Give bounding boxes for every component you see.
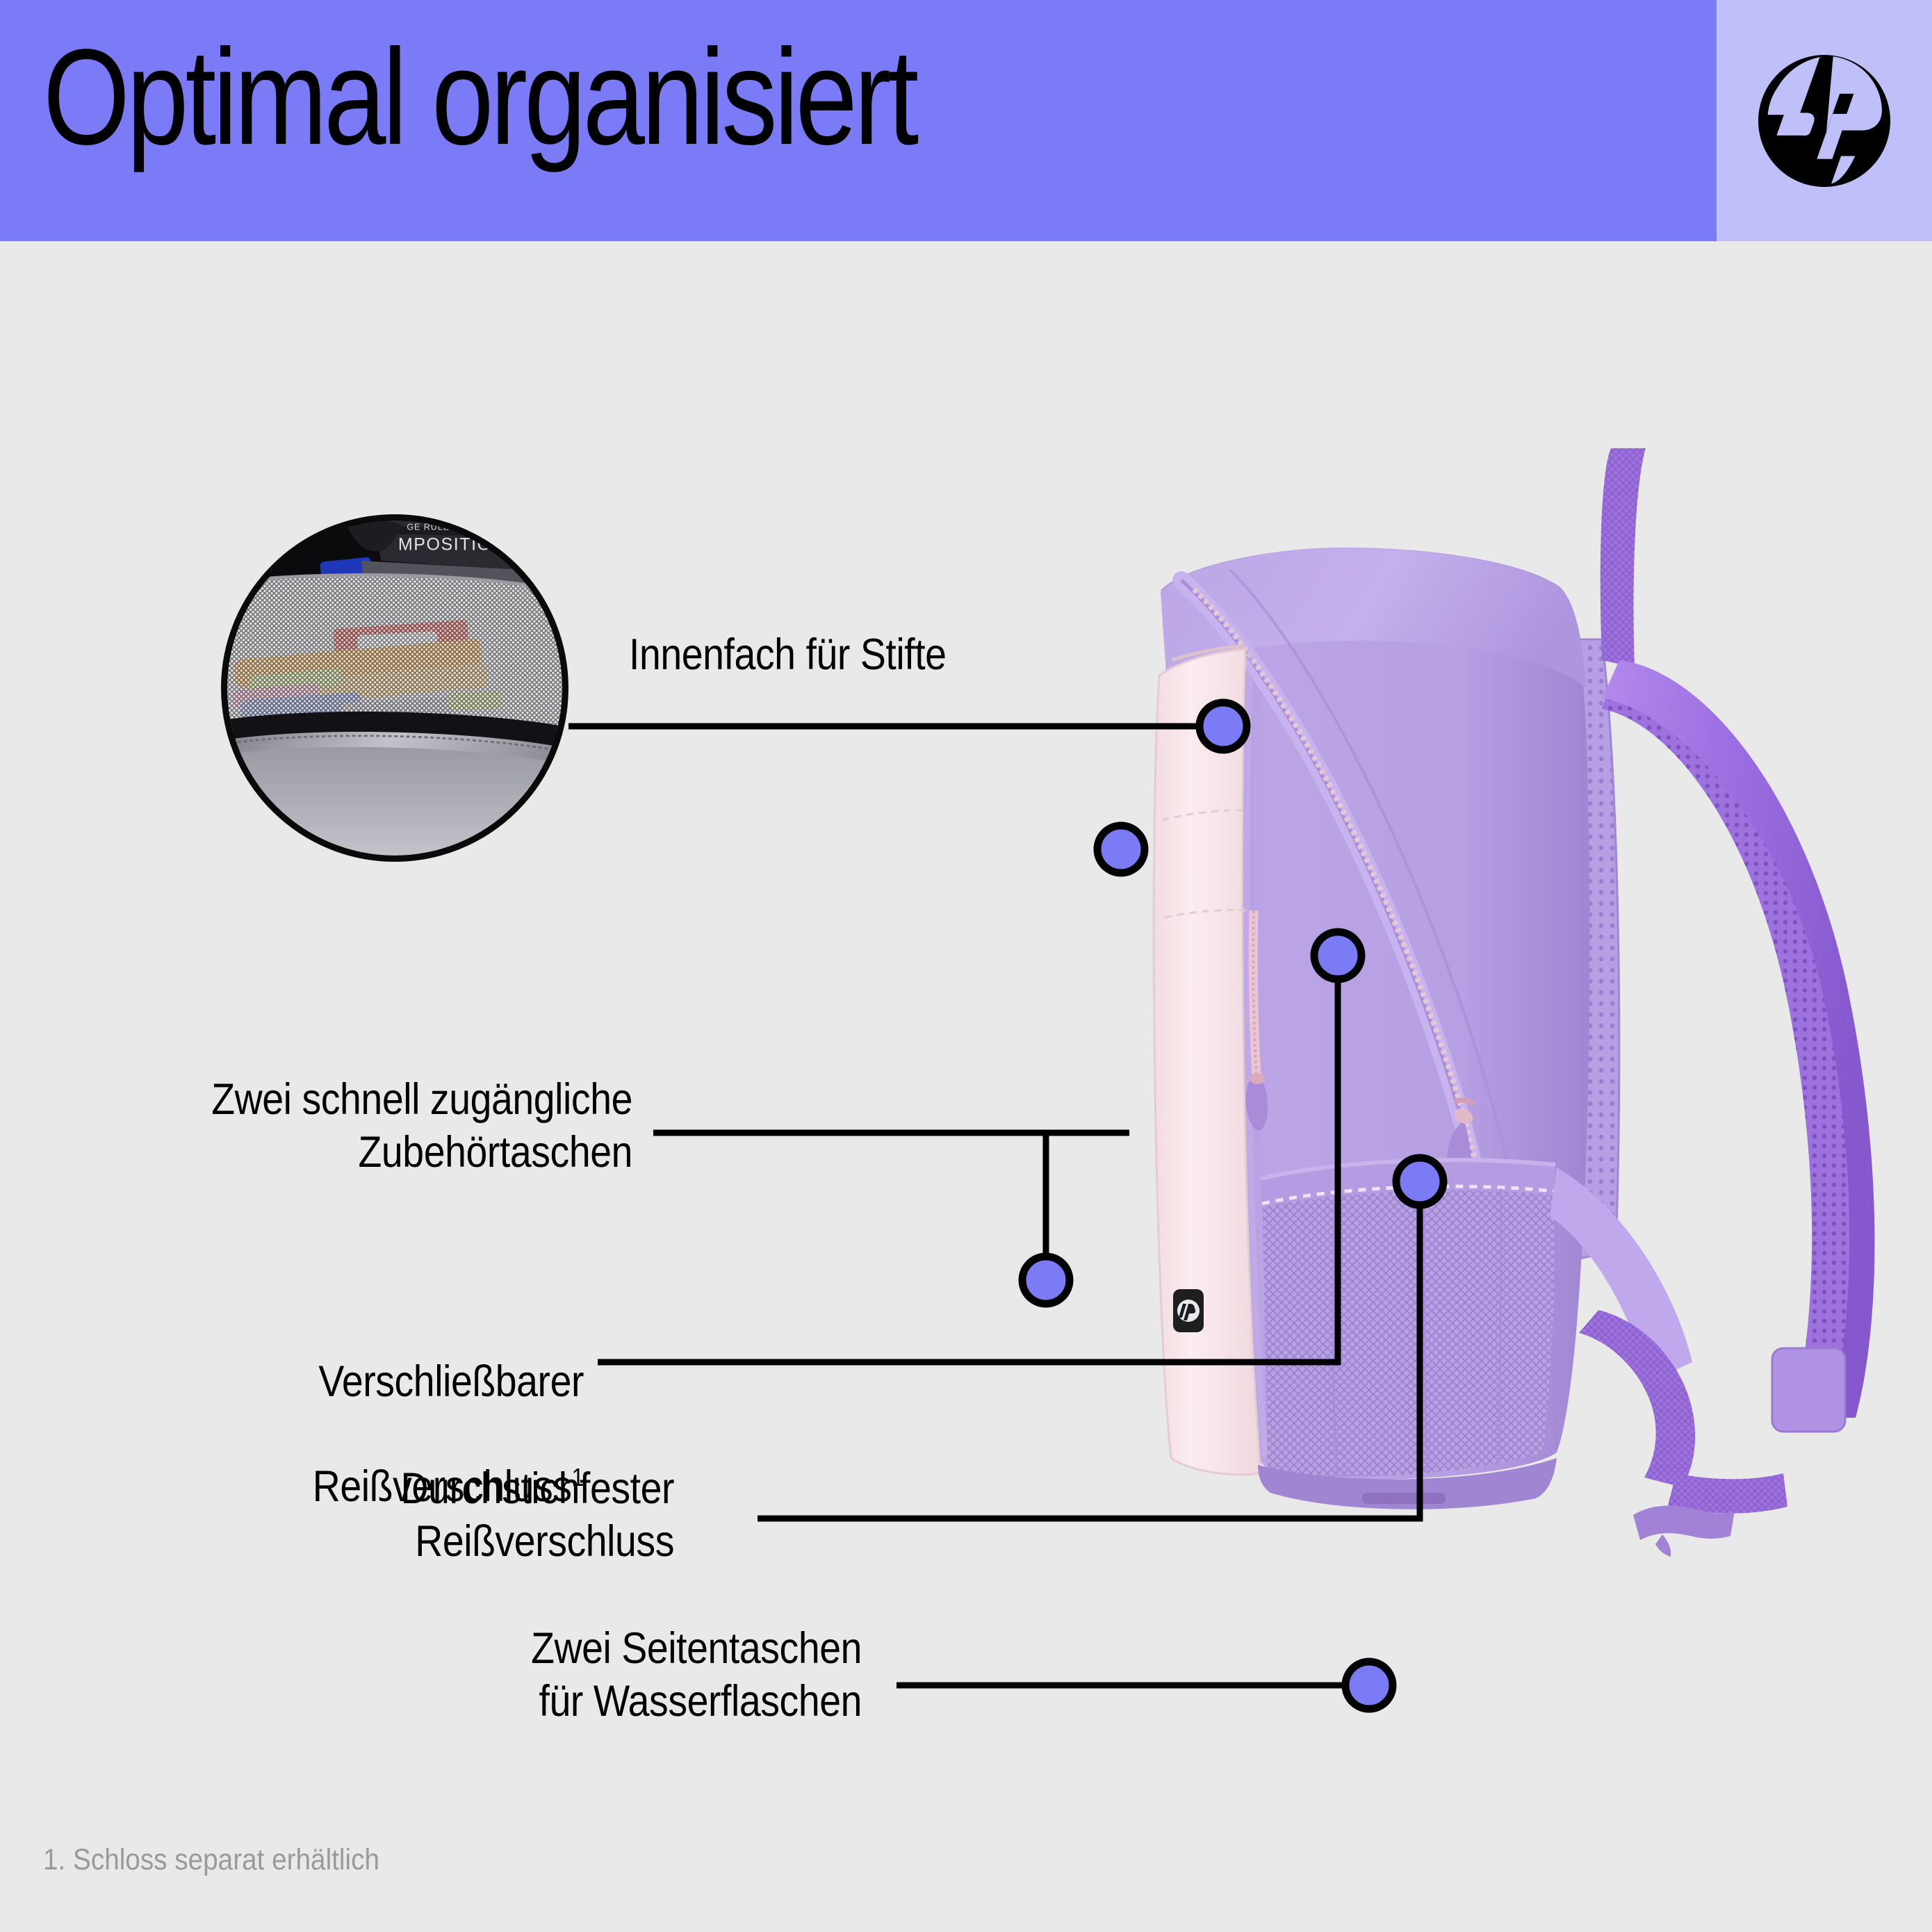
pen-compartment-detail-photo: GE RULED MPOSITION BOOK — [221, 514, 568, 862]
page-title: Optimal organisiert — [43, 29, 915, 165]
svg-text:GE RULED: GE RULED — [407, 522, 457, 532]
strap-buckle — [1633, 1506, 1735, 1557]
callout-label-innenfach: Innenfach für Stifte — [629, 629, 947, 682]
callout-label-seitentaschen: Zwei Seitentaschen für Wasserflaschen — [348, 1623, 862, 1728]
brand-logo-panel — [1717, 0, 1932, 241]
callout-label-durchstichfest: Durchstichfester Reißverschluss — [252, 1463, 674, 1568]
svg-text:MPOSITION BOOK: MPOSITION BOOK — [398, 534, 562, 554]
callout-label-zubehoertaschen: Zwei schnell zugängliche Zubehörtaschen — [149, 1074, 632, 1179]
footnote-text: 1. Schloss separat erhältlich — [43, 1843, 379, 1877]
hp-logo-icon — [1758, 55, 1890, 187]
header-bar: Optimal organisiert — [0, 0, 1932, 241]
callout-label-line1: Verschließbarer — [318, 1357, 584, 1406]
product-photo-backpack — [973, 431, 1904, 1814]
hp-badge-icon — [1173, 1289, 1204, 1332]
